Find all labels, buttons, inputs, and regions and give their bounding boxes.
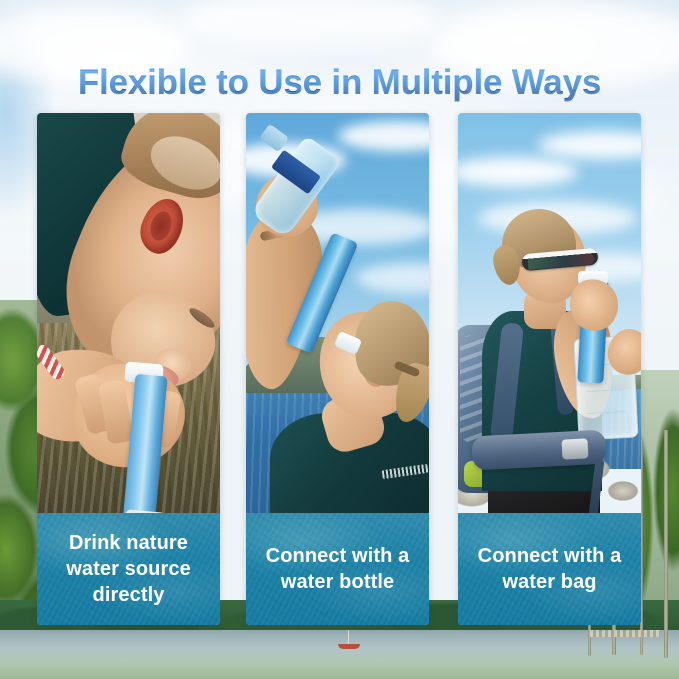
panel-caption-band: Connect with a water bag xyxy=(458,513,641,625)
panel-photo-connect-water-bag xyxy=(458,113,641,513)
panel-photo-drink-nature-water xyxy=(37,113,220,513)
feature-panel-connect-water-bottle[interactable]: Connect with a water bottle xyxy=(246,113,429,625)
panel-caption-band: Connect with a water bottle xyxy=(246,513,429,625)
panel-caption-text: Connect with a water bottle xyxy=(246,543,429,595)
page-title: Flexible to Use in Multiple Ways xyxy=(0,63,679,103)
feature-panel-connect-water-bag[interactable]: Connect with a water bag xyxy=(458,113,641,625)
panel-caption-band: Drink nature water source directly xyxy=(37,513,220,625)
water-bag-seam xyxy=(587,411,625,414)
hip-belt-buckle xyxy=(561,438,588,459)
panel-photo-connect-water-bottle xyxy=(246,113,429,513)
panel-caption-text: Connect with a water bag xyxy=(458,543,641,595)
product-feature-graphic: Flexible to Use in Multiple Ways xyxy=(0,0,679,679)
panel-caption-text: Drink nature water source directly xyxy=(37,530,220,608)
water-bag-seam xyxy=(587,389,623,392)
feature-panel-drink-nature-water[interactable]: Drink nature water source directly xyxy=(37,113,220,625)
